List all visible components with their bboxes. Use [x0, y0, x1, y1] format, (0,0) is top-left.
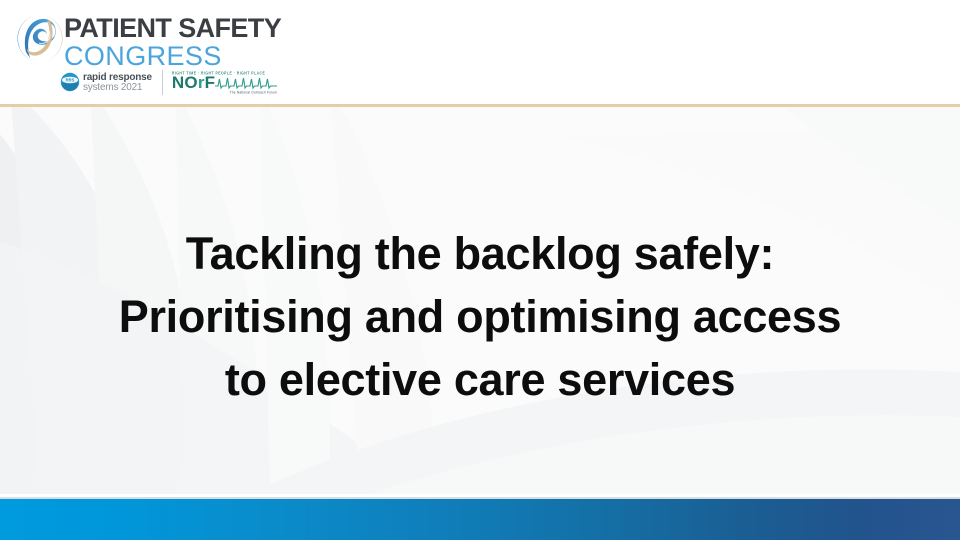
- rrs-label-line2: systems 2021: [83, 83, 152, 93]
- rrs-globe-badge-icon: RRS: [60, 72, 80, 92]
- title-line-3: to elective care services: [0, 348, 960, 411]
- swirl-circle-icon: [17, 14, 63, 63]
- norf-letter-f: F: [205, 75, 215, 91]
- rapid-response-logo: RRS rapid response systems 2021: [60, 72, 152, 93]
- norf-letter-n: N: [172, 75, 183, 91]
- brand-line-congress: CONGRESS: [64, 42, 274, 70]
- norf-tagline: RIGHT TIME · RIGHT PEOPLE · RIGHT PLACE: [172, 71, 277, 76]
- rrs-label-line1: rapid response: [83, 73, 152, 83]
- brand-wordmark: PATIENT SAFETY CONGRESS: [64, 14, 274, 70]
- title-line-2: Prioritising and optimising access: [0, 285, 960, 348]
- svg-text:RRS: RRS: [66, 77, 75, 82]
- slide-title: Tackling the backlog safely: Prioritisin…: [0, 222, 960, 411]
- footer-gradient-bar: [0, 499, 960, 540]
- norf-subtitle: The National Outreach Forum: [172, 90, 277, 95]
- title-line-1: Tackling the backlog safely:: [0, 222, 960, 285]
- logo-divider: [162, 70, 163, 95]
- presentation-slide: Tackling the backlog safely: Prioritisin…: [0, 0, 960, 540]
- header-gold-rule: [0, 104, 960, 107]
- slide-header: PATIENT SAFETY CONGRESS RRS rapid respon…: [0, 0, 960, 105]
- norf-letter-r: r: [198, 75, 204, 91]
- ecg-waveform-icon: [215, 75, 277, 91]
- brand-line-patient-safety: PATIENT SAFETY: [64, 14, 274, 42]
- norf-letter-o: O: [184, 75, 196, 91]
- norf-logo: RIGHT TIME · RIGHT PEOPLE · RIGHT PLACE …: [172, 71, 277, 94]
- partner-logos-row: RRS rapid response systems 2021 RIGHT TI…: [60, 67, 277, 97]
